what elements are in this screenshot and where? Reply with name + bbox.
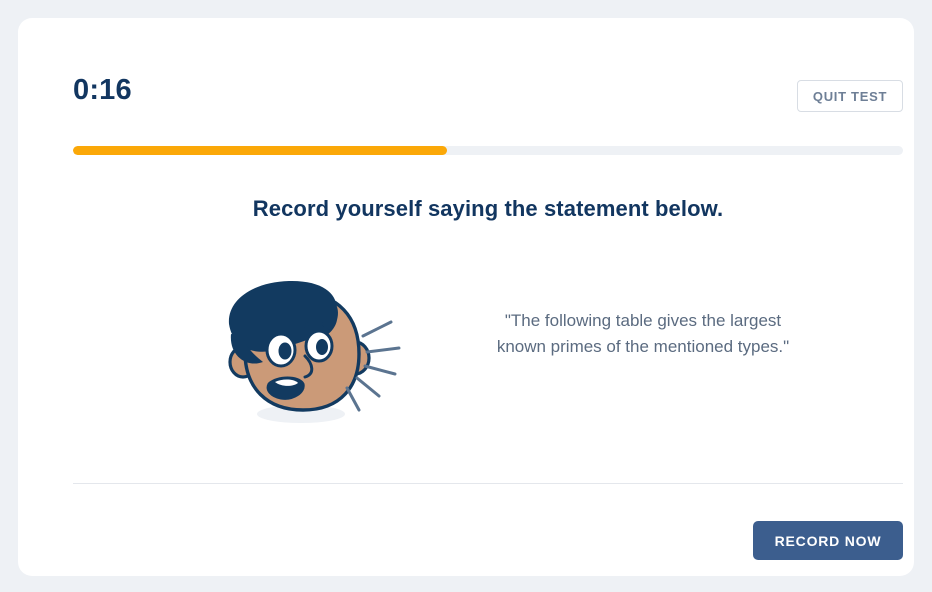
speaking-person-illustration — [223, 278, 403, 438]
card-header: 0:16 QUIT TEST — [73, 62, 903, 118]
test-card: 0:16 QUIT TEST Record yourself saying th… — [18, 18, 914, 576]
page-title: Record yourself saying the statement bel… — [73, 196, 903, 222]
countdown-timer: 0:16 — [73, 76, 132, 105]
footer-divider — [73, 483, 903, 484]
statement-text: "The following table gives the largest k… — [488, 308, 798, 360]
record-now-button[interactable]: RECORD NOW — [753, 521, 903, 560]
quit-test-button[interactable]: QUIT TEST — [797, 80, 903, 112]
prompt-content: "The following table gives the largest k… — [73, 268, 903, 458]
progress-bar-track — [73, 146, 903, 155]
progress-bar-fill — [73, 146, 447, 155]
